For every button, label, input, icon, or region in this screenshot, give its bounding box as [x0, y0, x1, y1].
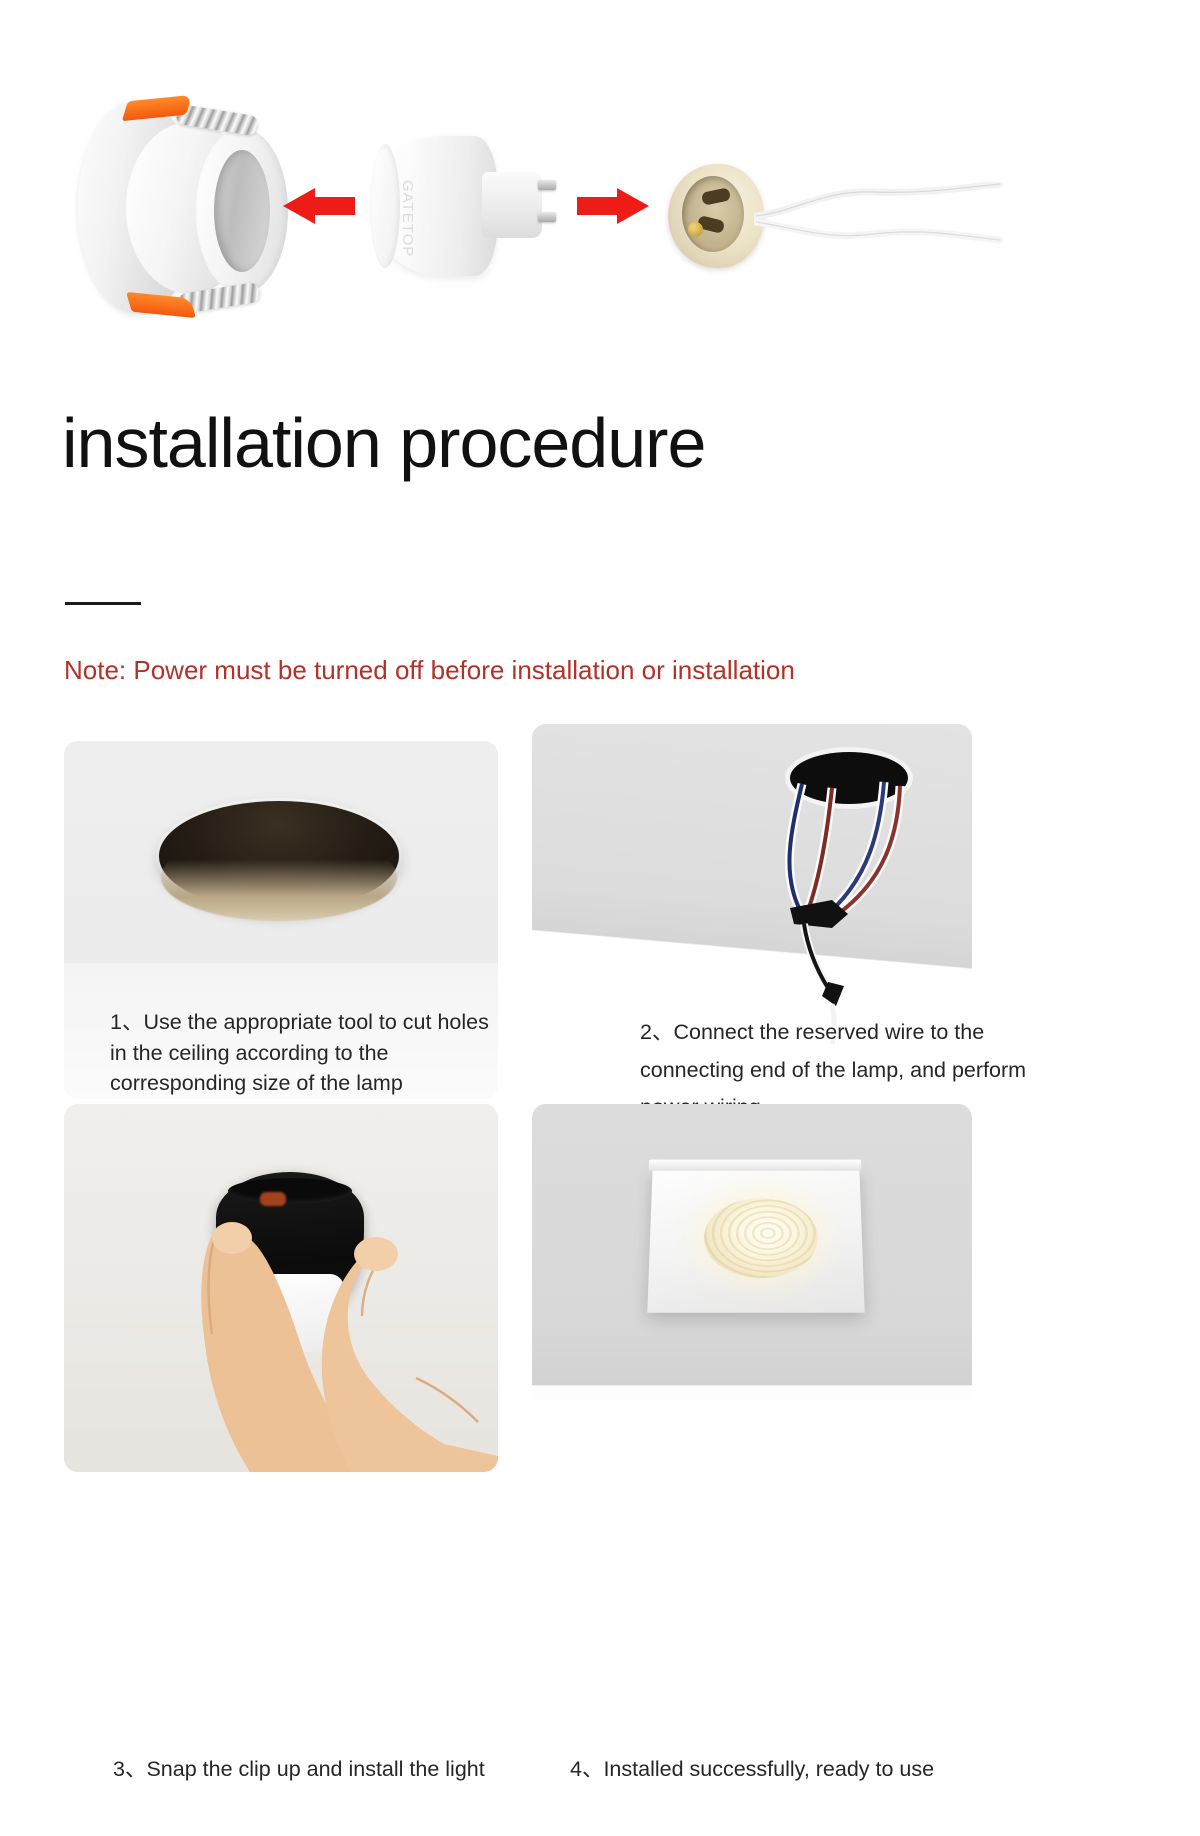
gu10-socket-image — [668, 160, 1008, 280]
step-4-lamp-reflector-rings — [704, 1198, 818, 1278]
step-2-wires — [532, 724, 972, 1044]
safety-note: Note: Power must be turned off before in… — [64, 655, 795, 686]
step-4-image — [532, 1104, 972, 1464]
step-3-hands — [64, 1104, 498, 1472]
gu10-bulb-image: GATETOP — [372, 136, 562, 276]
socket-wires — [754, 182, 1004, 262]
title-underline — [65, 602, 141, 605]
arrow-left-shaft — [313, 197, 355, 215]
step-1-hole-lip — [161, 833, 397, 921]
bulb-pin-top-icon — [538, 180, 556, 190]
arrow-right-icon — [577, 188, 649, 224]
arrow-right-shaft — [577, 197, 619, 215]
housing-bore — [214, 150, 270, 272]
page-title: installation procedure — [62, 408, 705, 478]
hero-exploded-diagram: GATETOP — [0, 0, 1200, 400]
arrow-left-head — [283, 188, 315, 224]
socket-contact-pin — [688, 222, 703, 237]
bulb-brand-text: GATETOP — [399, 180, 416, 257]
step-4-caption: 4、Installed successfully, ready to use — [570, 1754, 934, 1785]
arrow-right-head — [617, 188, 649, 224]
bulb-lens — [370, 144, 400, 268]
step-3-caption: 3、Snap the clip up and install the light — [113, 1754, 485, 1785]
step-3-image — [64, 1104, 498, 1472]
step-2-image — [532, 724, 972, 1044]
bulb-pin-bottom-icon — [538, 212, 556, 222]
recessed-housing-image — [78, 92, 288, 322]
bulb-base — [482, 172, 542, 238]
step-1-caption: 1、Use the appropriate tool to cut holes … — [110, 1007, 510, 1099]
socket-cavity — [682, 176, 744, 252]
arrow-left-icon — [283, 188, 355, 224]
